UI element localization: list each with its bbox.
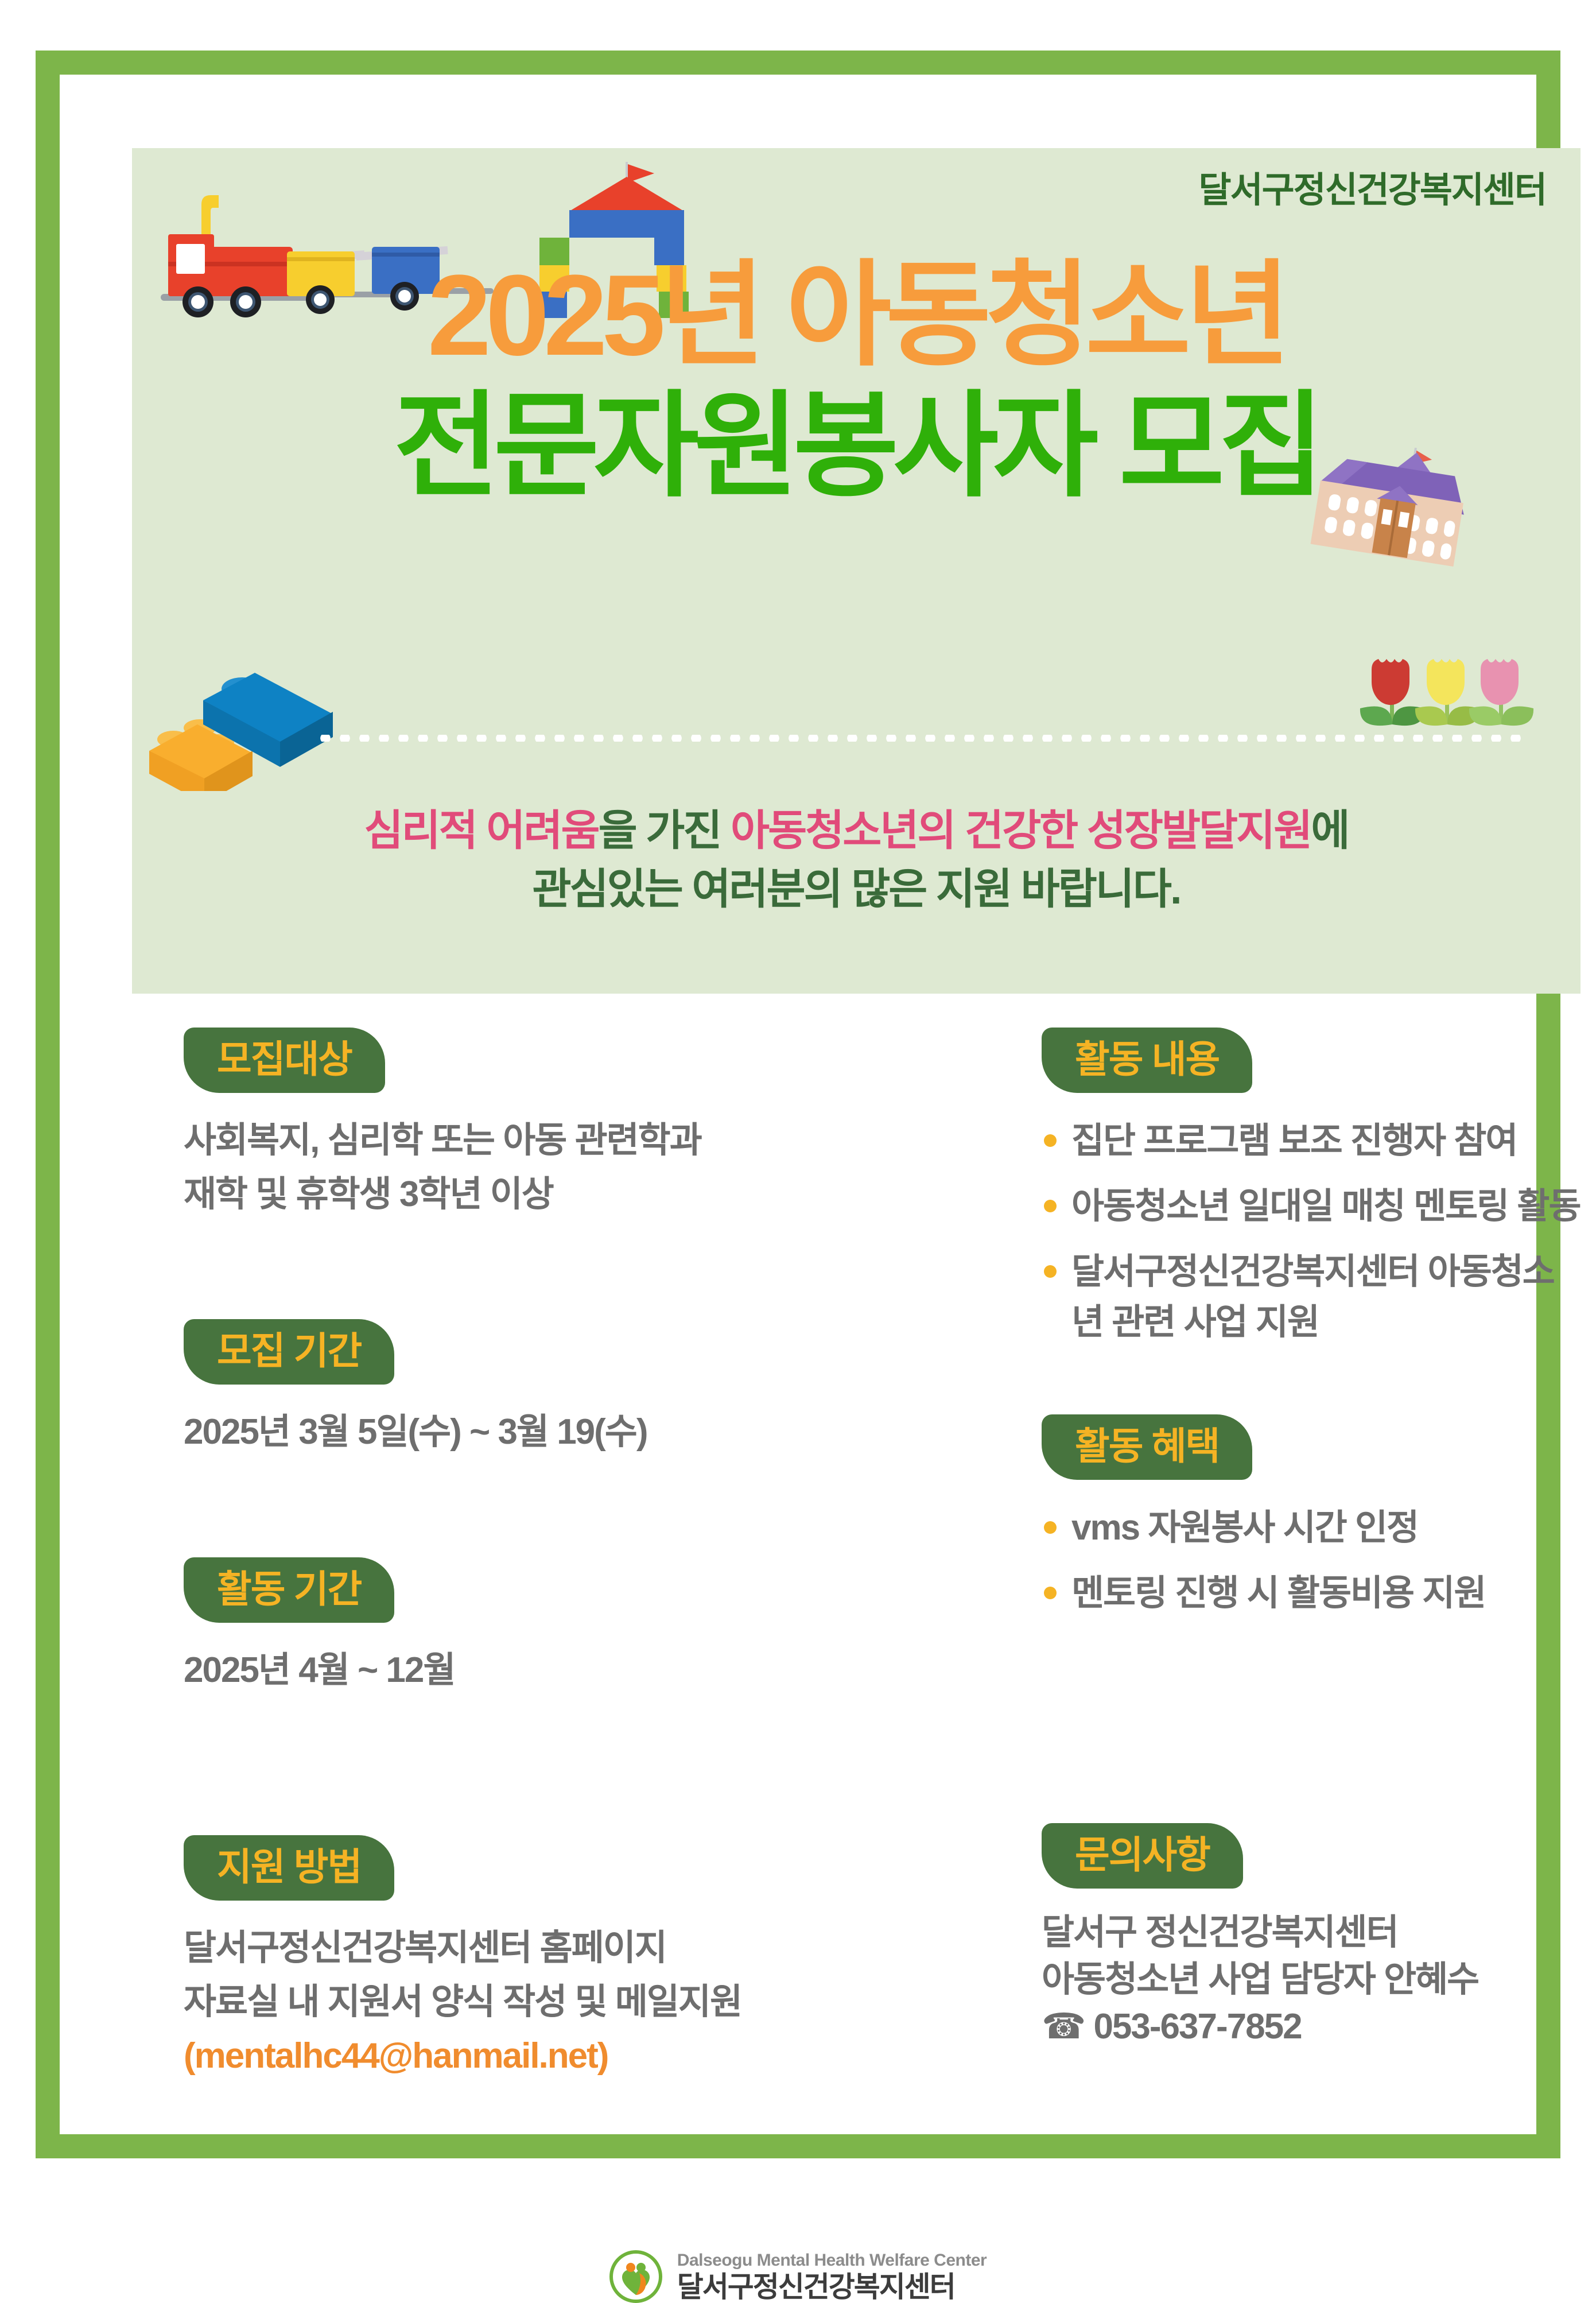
badge-activity-benefit: 활동 혜택 <box>1042 1414 1252 1480</box>
poster-frame: 달서구정신건강복지센터 2025년 아동청소년 전문자원봉사자 모집 심리적 어… <box>36 51 1560 2158</box>
subtitle-line-1: 심리적 어려움을 가진 아동청소년의 건강한 성장발달지원에 <box>132 801 1581 860</box>
section-target: 모집대상 사회복지, 심리학 또는 아동 관련학과 재학 및 휴학생 3학년 이… <box>184 1028 852 1222</box>
list-item: 아동청소년 일대일 매칭 멘토링 활동 <box>1042 1181 1581 1232</box>
activity-period-line-1: 2025년 4월 ~ 12월 <box>184 1643 852 1697</box>
page-title: 2025년 아동청소년 전문자원봉사자 모집 <box>132 148 1581 504</box>
badge-inquiry: 문의사항 <box>1042 1823 1243 1889</box>
tulip-flowers-icon <box>1354 653 1538 745</box>
list-item: 멘토링 진행 시 활동비용 지원 <box>1042 1568 1581 1619</box>
section-recruit-period: 모집 기간 2025년 3월 5일(수) ~ 3월 19(수) <box>184 1319 852 1459</box>
apply-email[interactable]: (mentalhc44@hanmail.net) <box>184 2029 852 2083</box>
badge-activity-content: 활동 내용 <box>1042 1028 1252 1093</box>
recruit-period-line-1: 2025년 3월 5일(수) ~ 3월 19(수) <box>184 1405 852 1459</box>
inquiry-line-1: 달서구 정신건강복지센터 <box>1042 1909 1581 1956</box>
inquiry-body: 달서구 정신건강복지센터 아동청소년 사업 담당자 안혜수 ☎ 053-637-… <box>1042 1909 1581 2050</box>
logo-text: Dalseogu Mental Health Welfare Center 달서… <box>677 2251 987 2302</box>
apply-method-body: 달서구정신건강복지센터 홈페이지 자료실 내 지원서 양식 작성 및 메일지원 … <box>184 1921 852 2084</box>
list-item: vms 자원봉사 시간 인정 <box>1042 1503 1581 1553</box>
section-activity-benefit: 활동 혜택 vms 자원봉사 시간 인정 멘토링 진행 시 활동비용 지원 <box>1042 1414 1581 1619</box>
list-item: 달서구정신건강복지센터 아동청소년 관련 사업 지원 <box>1042 1247 1581 1348</box>
footer-logo: Dalseogu Mental Health Welfare Center 달서… <box>60 2250 1536 2303</box>
recruit-period-body: 2025년 3월 5일(수) ~ 3월 19(수) <box>184 1405 852 1459</box>
title-line-1: 2025년 아동청소년 <box>132 258 1581 373</box>
section-activity-period: 활동 기간 2025년 4월 ~ 12월 <box>184 1557 852 1697</box>
inquiry-phone: ☎ 053-637-7852 <box>1042 2003 1581 2050</box>
logo-english-name: Dalseogu Mental Health Welfare Center <box>677 2251 987 2270</box>
badge-target: 모집대상 <box>184 1028 385 1093</box>
target-line-1: 사회복지, 심리학 또는 아동 관련학과 <box>184 1114 852 1168</box>
target-body: 사회복지, 심리학 또는 아동 관련학과 재학 및 휴학생 3학년 이상 <box>184 1114 852 1222</box>
subtitle-plain-1: 을 가진 <box>599 807 731 854</box>
apply-method-line-2: 자료실 내 지원서 양식 작성 및 메일지원 <box>184 1975 852 2029</box>
badge-activity-period: 활동 기간 <box>184 1557 394 1623</box>
activity-benefit-list: vms 자원봉사 시간 인정 멘토링 진행 시 활동비용 지원 <box>1042 1503 1581 1619</box>
badge-recruit-period: 모집 기간 <box>184 1319 394 1385</box>
section-inquiry: 문의사항 달서구 정신건강복지센터 아동청소년 사업 담당자 안혜수 ☎ 053… <box>1042 1823 1581 2050</box>
subtitle: 심리적 어려움을 가진 아동청소년의 건강한 성장발달지원에 관심있는 여러분의… <box>132 801 1581 918</box>
subtitle-emphasis-1: 심리적 어려움 <box>364 807 599 854</box>
spacer <box>1042 1634 1581 1823</box>
spacer <box>184 1697 852 1835</box>
hero-panel: 달서구정신건강복지센터 2025년 아동청소년 전문자원봉사자 모집 심리적 어… <box>132 148 1581 994</box>
apply-method-line-1: 달서구정신건강복지센터 홈페이지 <box>184 1921 852 1975</box>
target-line-2: 재학 및 휴학생 3학년 이상 <box>184 1168 852 1222</box>
subtitle-line-2: 관심있는 여러분의 많은 지원 바랍니다. <box>132 860 1581 918</box>
content-area: 모집대상 사회복지, 심리학 또는 아동 관련학과 재학 및 휴학생 3학년 이… <box>132 1028 1581 2084</box>
logo-korean-name: 달서구정신건강복지센터 <box>677 2272 987 2302</box>
lego-bricks-icon <box>143 659 344 791</box>
badge-apply-method: 지원 방법 <box>184 1835 394 1901</box>
right-column: 활동 내용 집단 프로그램 보조 진행자 참여 아동청소년 일대일 매칭 멘토링… <box>852 1028 1581 2084</box>
center-logo-icon <box>609 2250 662 2303</box>
list-item: 집단 프로그램 보조 진행자 참여 <box>1042 1116 1581 1166</box>
left-column: 모집대상 사회복지, 심리학 또는 아동 관련학과 재학 및 휴학생 3학년 이… <box>132 1028 852 2084</box>
inquiry-line-2: 아동청소년 사업 담당자 안혜수 <box>1042 1956 1581 2003</box>
spacer <box>184 1460 852 1557</box>
activity-period-body: 2025년 4월 ~ 12월 <box>184 1643 852 1697</box>
subtitle-emphasis-2: 아동청소년의 건강한 성장발달지원 <box>731 807 1311 854</box>
spacer <box>1042 1363 1581 1414</box>
subtitle-plain-2: 에 <box>1311 807 1348 854</box>
section-activity-content: 활동 내용 집단 프로그램 보조 진행자 참여 아동청소년 일대일 매칭 멘토링… <box>1042 1028 1581 1348</box>
dotted-divider <box>316 735 1521 742</box>
activity-content-list: 집단 프로그램 보조 진행자 참여 아동청소년 일대일 매칭 멘토링 활동 달서… <box>1042 1116 1581 1348</box>
section-apply-method: 지원 방법 달서구정신건강복지센터 홈페이지 자료실 내 지원서 양식 작성 및… <box>184 1835 852 2084</box>
spacer <box>184 1222 852 1319</box>
title-line-2: 전문자원봉사자 모집 <box>132 389 1581 504</box>
